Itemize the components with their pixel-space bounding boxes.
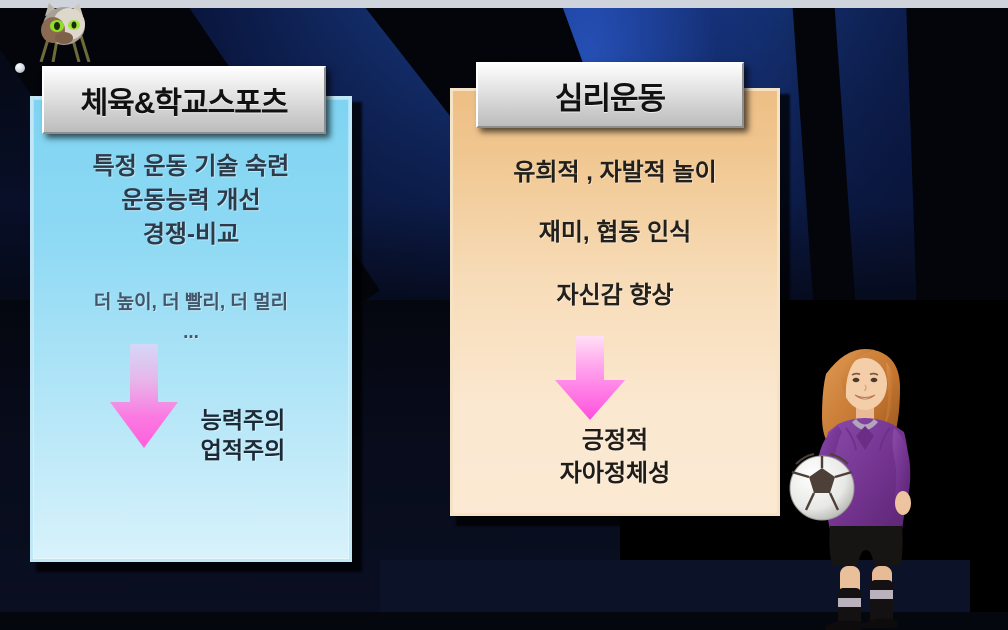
background-top-strip <box>0 0 1008 8</box>
left-panel-sublines: 더 높이, 더 빨리, 더 멀리 ... <box>30 288 352 348</box>
left-panel-result-line-2: 업적주의 <box>148 435 338 465</box>
right-panel-title-plate: 심리운동 <box>476 62 744 128</box>
robot-cat-mascot-icon <box>33 0 95 62</box>
left-panel-result-line-1: 능력주의 <box>148 405 338 435</box>
left-panel-result: 능력주의 업적주의 <box>148 405 338 465</box>
slide-canvas: 체육&학교스포츠 특정 운동 기술 숙련 운동능력 개선 경쟁-비교 더 높이,… <box>0 0 1008 630</box>
left-panel-line-1: 특정 운동 기술 숙련 <box>30 150 352 184</box>
left-panel-lines: 특정 운동 기술 숙련 운동능력 개선 경쟁-비교 <box>30 150 352 252</box>
right-panel-result-line-2: 자아정체성 <box>450 457 780 490</box>
right-panel-result-line-1: 긍정적 <box>450 424 780 457</box>
left-panel-subline-2: ... <box>30 318 352 348</box>
right-panel-line-2: 재미, 협동 인식 <box>450 212 780 247</box>
left-panel-line-3: 경쟁-비교 <box>30 218 352 252</box>
left-panel-title-plate: 체육&학교스포츠 <box>42 66 326 134</box>
right-panel-line-1: 유희적 , 자발적 놀이 <box>450 152 780 187</box>
girl-soccer-player-photo <box>778 340 958 630</box>
left-panel-line-2: 운동능력 개선 <box>30 184 352 218</box>
right-panel-down-arrow-icon <box>547 336 633 427</box>
left-panel-title: 체육&학교스포츠 <box>81 78 288 122</box>
white-dot-icon <box>15 63 25 73</box>
right-panel-title: 심리운동 <box>555 73 665 118</box>
right-panel-line-3: 자신감 향상 <box>450 275 780 310</box>
left-panel-subline-1: 더 높이, 더 빨리, 더 멀리 <box>30 288 352 318</box>
right-panel-result: 긍정적 자아정체성 <box>450 424 780 490</box>
